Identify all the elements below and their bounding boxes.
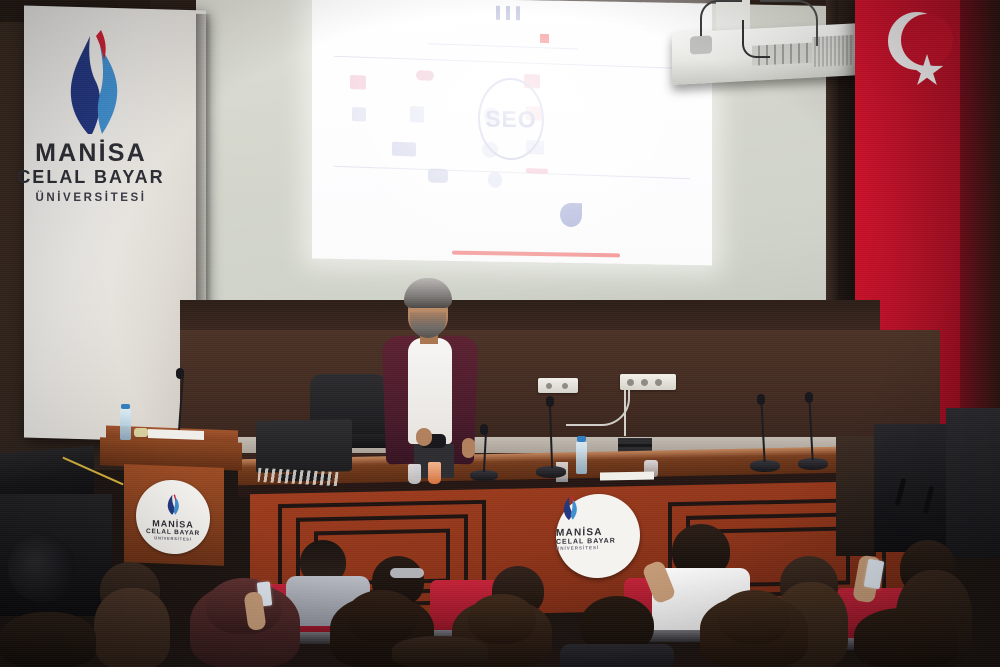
mic-head	[805, 392, 813, 403]
drink-cup	[428, 462, 441, 484]
left-hand	[416, 428, 432, 446]
conference-hall-photo: SEO MANİSA CELAL BAYAR ÜNİVERSİTESİ	[0, 0, 1000, 667]
right-wall-dark	[960, 0, 1000, 470]
mic-head	[480, 424, 488, 435]
mic-head	[757, 394, 765, 405]
projector-vent	[812, 35, 854, 67]
pa-speaker-far-right	[946, 408, 1000, 558]
socket-hole	[627, 379, 634, 386]
desk-monitor	[256, 419, 352, 473]
slide-red-square-icon	[540, 34, 549, 43]
flame-logo-icon	[44, 22, 140, 140]
audience-head	[468, 594, 536, 644]
water-bottle	[576, 440, 587, 474]
projector-lens	[690, 35, 712, 54]
flame-logo-icon	[556, 494, 584, 523]
flame-logo-icon	[161, 493, 185, 518]
white-tshirt	[408, 338, 452, 444]
beard	[410, 312, 446, 338]
lectern-mic-head	[176, 368, 184, 379]
speaker-stand	[836, 436, 876, 556]
audience-body	[560, 644, 674, 667]
table-emblem-line-3: ÜNİVERSİTESİ	[556, 544, 640, 551]
papers-on-lectern	[148, 429, 204, 440]
presenter	[386, 278, 482, 478]
seo-badge: SEO	[478, 77, 544, 160]
projector-cable-1	[700, 0, 742, 36]
glass-cup	[408, 464, 421, 484]
lectern-emblem-line-3: ÜNİVERSİTESİ	[154, 535, 191, 541]
audience-head-foreground	[0, 612, 96, 667]
socket-hole	[562, 383, 568, 389]
seo-label: SEO	[485, 105, 537, 133]
lectern-cup	[134, 428, 148, 437]
water-bottle	[120, 408, 131, 440]
mic-head	[546, 396, 554, 407]
socket-hole	[655, 379, 662, 386]
sunglasses-icon	[390, 568, 424, 578]
audience-hair	[854, 608, 958, 667]
socket-cable-2	[624, 390, 636, 436]
papers-on-table	[600, 472, 654, 481]
banner-line-2: CELAL BAYAR	[10, 166, 172, 189]
audience-head	[206, 578, 282, 634]
bottle-cap	[577, 436, 586, 442]
slide-top-icons	[496, 6, 520, 20]
bottle-cap	[121, 404, 130, 409]
socket-hole	[546, 383, 552, 389]
hair	[404, 278, 452, 308]
right-hand	[462, 438, 475, 458]
banner-line-3: ÜNİVERSİTESİ	[10, 189, 172, 207]
banner-line-1: MANİSA	[10, 140, 172, 166]
socket-hole	[641, 379, 648, 386]
stage-monitor-speaker	[0, 446, 94, 498]
projector-cable-3	[742, 20, 770, 58]
audience-head-foreground	[392, 636, 488, 667]
audience-hair	[94, 588, 170, 667]
speaker-cone	[8, 534, 76, 602]
banner-text-block: MANİSA CELAL BAYAR ÜNİVERSİTESİ	[10, 140, 172, 207]
audience-head	[718, 590, 790, 644]
audience-head	[346, 590, 418, 642]
slide-pie-icon	[560, 203, 582, 227]
